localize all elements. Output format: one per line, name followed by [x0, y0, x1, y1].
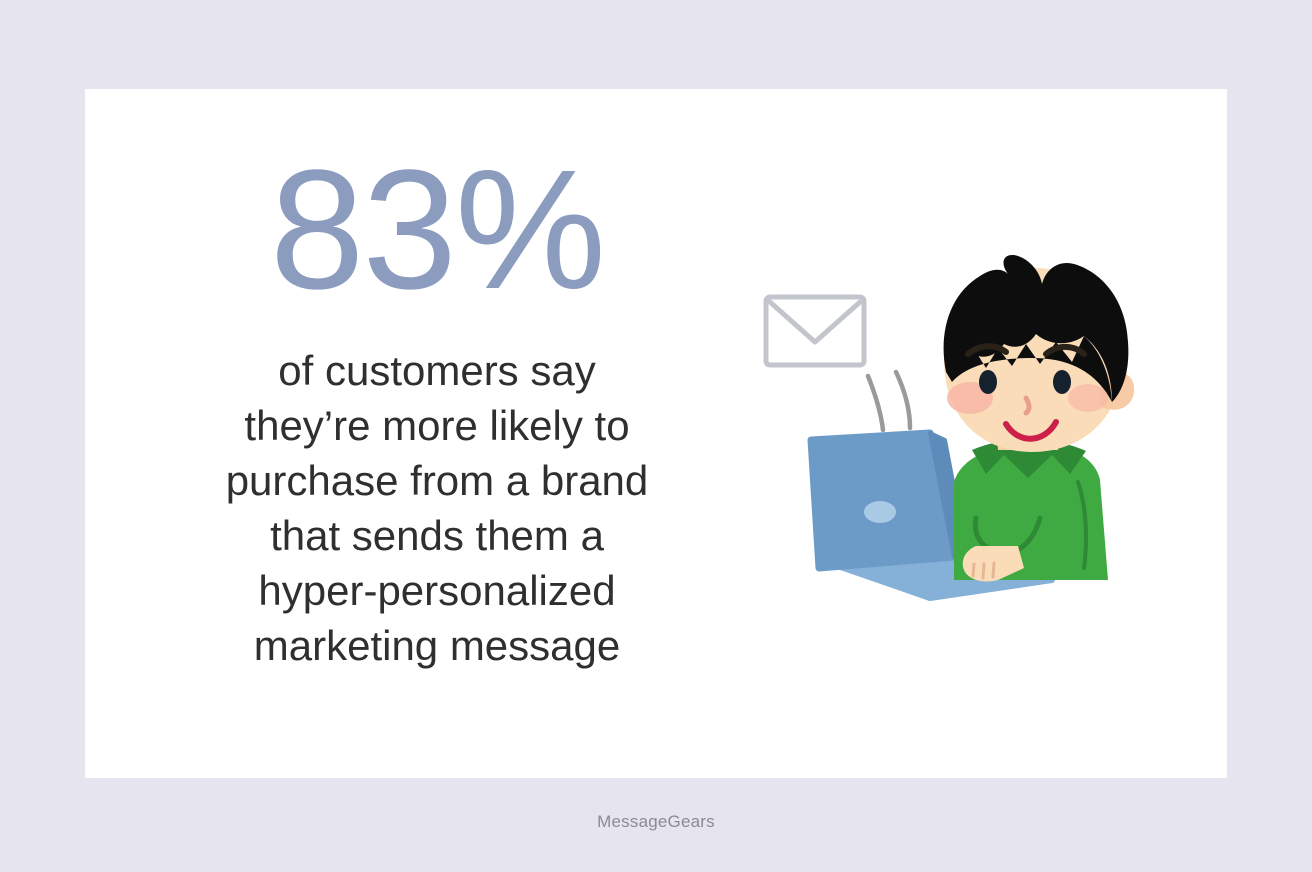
stat-text-column: 83% of customers say they’re more likely…	[187, 155, 687, 673]
slide-card: 83% of customers say they’re more likely…	[85, 89, 1227, 778]
envelope-icon	[766, 297, 864, 365]
illustration-boy-at-laptop	[740, 250, 1140, 630]
stat-percentage: 83%	[187, 155, 687, 305]
stat-caption: of customers say they’re more likely to …	[187, 343, 687, 673]
person	[944, 255, 1135, 582]
attribution-label: MessageGears	[0, 812, 1312, 832]
slide-stage: 83% of customers say they’re more likely…	[0, 0, 1312, 872]
motion-lines-icon	[868, 372, 910, 430]
